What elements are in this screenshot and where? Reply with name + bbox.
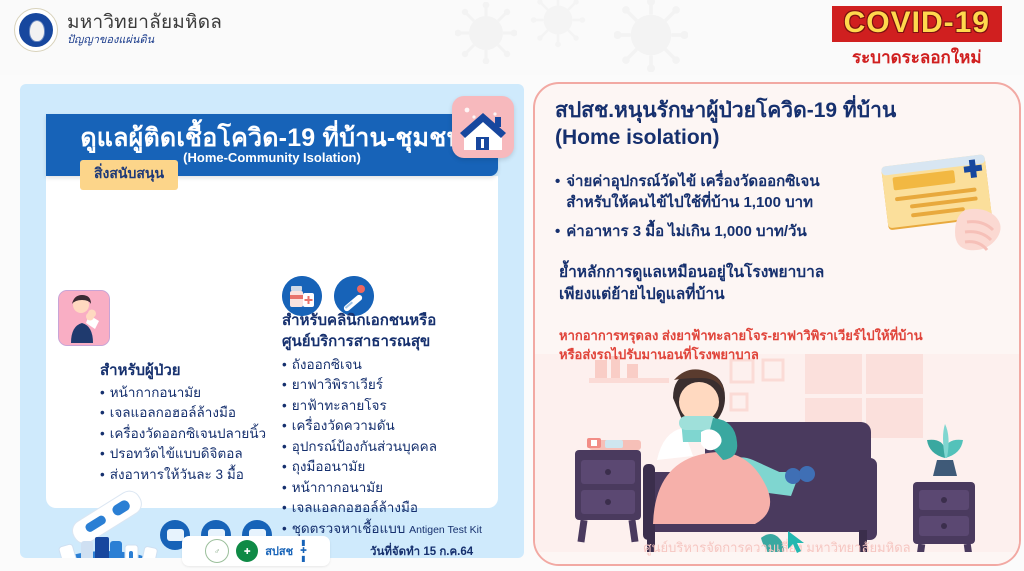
bullet-line2-suffix: บาท — [781, 194, 813, 211]
date-made-label: วันที่จัดทำ 15 ก.ค.64 — [370, 543, 473, 561]
list-item-label: ยาฟาวิพิราเวียร์ — [292, 375, 512, 396]
slide-canvas: มหาวิทยาลัยมหิดล ปัญญาของแผ่นดิน COVID-1… — [0, 0, 1024, 571]
mahidol-seal-icon — [14, 8, 58, 52]
university-name-block: มหาวิทยาลัยมหิดล ปัญญาของแผ่นดิน — [67, 13, 222, 46]
list-item: •ถุงมืออนามัย — [282, 457, 512, 478]
bullet-dot: • — [100, 403, 105, 424]
thermometer-icon — [334, 276, 374, 316]
list-item: • ค่าอาหาร 3 มื้อ ไม่เกิน 1,000 บาท/วัน — [555, 222, 915, 243]
list-item-label: หน้ากากอนามัย — [110, 383, 290, 404]
bullet-dot: • — [100, 444, 105, 465]
university-name: มหาวิทยาลัยมหิดล — [67, 13, 222, 33]
covid-badge-word: COVID-19 — [832, 6, 1002, 42]
bullet-amount: 1,000 — [714, 223, 752, 240]
list-item: •หน้ากากอนามัย — [282, 478, 512, 499]
list-item-label: ค่าอาหาร 3 มื้อ ไม่เกิน 1,000 บาท/วัน — [566, 222, 806, 243]
clinic-column-heading-line2: ศูนย์บริการสาธารณสุข — [282, 333, 512, 352]
list-item: •ยาฟ้าทะลายโจร — [282, 396, 512, 417]
partner-logos: ♂ ✚ สปสช ▮✚▮ — [182, 536, 330, 566]
bullet-line1-prefix: ค่าอาหาร 3 มื้อ ไม่เกิน — [566, 223, 714, 240]
coughing-woman-icon — [58, 290, 110, 346]
right-card-emphasis: ย้ำหลักการดูแลเหมือนอยู่ในโรงพยาบาล เพีย… — [559, 262, 979, 306]
list-item-label: ถังออกซิเจน — [292, 355, 512, 376]
patient-column: สำหรับผู้ป่วย •หน้ากากอนามัย •เจลแอลกอฮอ… — [100, 362, 290, 485]
list-item-text: ชุดตรวจหาเชื้อแบบ — [292, 521, 406, 536]
bullet-dot: • — [282, 416, 287, 437]
list-item: •ยาฟาวิพิราเวียร์ — [282, 375, 512, 396]
list-item: •เครื่องวัดออกซิเจนปลายนิ้ว — [100, 424, 290, 445]
list-item: •เจลแอลกอฮอล์ล้างมือ — [100, 403, 290, 424]
home-isolation-card: สปสช.หนุนรักษาผู้ป่วยโควิด-19 ที่บ้าน (H… — [533, 82, 1021, 566]
emphasis-line1: ย้ำหลักการดูแลเหมือนอยู่ในโรงพยาบาล — [559, 262, 979, 284]
clinic-column-heading-line1: สำหรับคลินิกเอกชนหรือ — [282, 312, 512, 331]
list-item: •เจลแอลกอฮอล์ล้างมือ — [282, 498, 512, 519]
covid-badge: COVID-19 ระบาดระลอกใหม่ — [832, 6, 1002, 71]
list-item-label: อุปกรณ์ป้องกันส่วนบุคคล — [292, 437, 512, 458]
list-item: •เครื่องวัดความดัน — [282, 416, 512, 437]
bullet-dot: • — [282, 437, 287, 458]
warning-line2: หรือส่งรถไปรับมานอนที่โรงพยาบาล — [559, 345, 999, 364]
bullet-dot: • — [555, 222, 560, 243]
department-of-health-logo: ✚ — [236, 540, 258, 562]
thai-government-logo: ▮✚▮ — [300, 539, 307, 563]
sick-person-on-sofa-icon — [535, 354, 1019, 564]
bullet-dot: • — [100, 383, 105, 404]
bullet-dot: • — [282, 457, 287, 478]
mouse-pointer-icon — [786, 529, 812, 555]
nhso-label: สปสช — [265, 542, 293, 560]
coronavirus-icon — [530, 0, 586, 48]
bullet-line1-suffix: บาท/วัน — [752, 223, 807, 240]
bullet-dot: • — [282, 375, 287, 396]
bullet-line1: จ่ายค่าอุปกรณ์วัดไข้ เครื่องวัดออกซิเจน — [566, 173, 819, 190]
list-item-suffix: Antigen Test Kit — [409, 524, 482, 536]
antigen-test-kit-icon — [48, 479, 168, 558]
bullet-dot: • — [282, 355, 287, 376]
clinic-icons-row — [282, 276, 374, 316]
support-badge: สิ่งสนับสนุน — [80, 160, 178, 190]
bullet-amount: 1,100 — [743, 194, 781, 211]
coronavirus-icon — [455, 2, 517, 64]
slide-header: มหาวิทยาลัยมหิดล ปัญญาของแผ่นดิน COVID-1… — [0, 0, 1024, 75]
medicine-bottle-icon — [282, 276, 322, 316]
nhso-logo: สปสช — [265, 542, 293, 560]
list-item-label: ปรอทวัดไข้แบบดิจิตอล — [110, 444, 290, 465]
right-card-title: สปสช.หนุนรักษาผู้ป่วยโควิด-19 ที่บ้าน (H… — [555, 98, 985, 152]
bullet-dot: • — [555, 172, 560, 213]
ministry-of-public-health-logo: ♂ — [205, 539, 229, 563]
warning-line1: หากอาการทรุดลง ส่งยาฟ้าทะลายโจร-ยาฟาวิพิ… — [559, 326, 999, 345]
house-icon — [452, 96, 514, 158]
list-item-label: จ่ายค่าอุปกรณ์วัดไข้ เครื่องวัดออกซิเจน … — [566, 172, 819, 213]
bullet-dot: • — [282, 478, 287, 499]
covid-badge-subtitle: ระบาดระลอกใหม่ — [832, 44, 1002, 71]
list-item-label: หน้ากากอนามัย — [292, 478, 512, 499]
list-item: •ถังออกซิเจน — [282, 355, 512, 376]
list-item-label: เจลแอลกอฮอล์ล้างมือ — [110, 403, 290, 424]
home-community-isolation-card: ดูแลผู้ติดเชื้อโควิด-19 ที่บ้าน-ชุมชน (H… — [20, 84, 524, 558]
list-item: • จ่ายค่าอุปกรณ์วัดไข้ เครื่องวัดออกซิเจ… — [555, 172, 915, 213]
list-item: •ปรอทวัดไข้แบบดิจิตอล — [100, 444, 290, 465]
credit-line: ศูนย์บริหารจัดการความเสี่ยง มหาวิทยาลัยม… — [535, 537, 1019, 558]
right-card-title-line1: สปสช.หนุนรักษาผู้ป่วยโควิด-19 ที่บ้าน — [555, 98, 985, 125]
list-item-label: ยาฟ้าทะลายโจร — [292, 396, 512, 417]
patient-column-heading: สำหรับผู้ป่วย — [100, 362, 290, 381]
clinic-column: สำหรับคลินิกเอกชนหรือ ศูนย์บริการสาธารณส… — [282, 312, 512, 539]
university-logo-block: มหาวิทยาลัยมหิดล ปัญญาของแผ่นดิน — [14, 8, 222, 52]
list-item-label: ถุงมืออนามัย — [292, 457, 512, 478]
right-card-warning: หากอาการทรุดลง ส่งยาฟ้าทะลายโจร-ยาฟาวิพิ… — [559, 326, 999, 364]
emphasis-line2: เพียงแต่ย้ายไปดูแลที่บ้าน — [559, 284, 979, 306]
bullet-dot: • — [282, 498, 287, 519]
right-card-bullets: • จ่ายค่าอุปกรณ์วัดไข้ เครื่องวัดออกซิเจ… — [555, 172, 915, 252]
coronavirus-icon — [614, 0, 688, 72]
bullet-line2-prefix: สำหรับให้คนไข้ไปใช้ที่บ้าน — [566, 194, 743, 211]
list-item-label: เครื่องวัดออกซิเจนปลายนิ้ว — [110, 424, 290, 445]
list-item-label: เครื่องวัดความดัน — [292, 416, 512, 437]
list-item-label: เจลแอลกอฮอล์ล้างมือ — [292, 498, 512, 519]
list-item: •อุปกรณ์ป้องกันส่วนบุคคล — [282, 437, 512, 458]
bullet-dot: • — [282, 396, 287, 417]
bullet-dot: • — [100, 424, 105, 445]
list-item: •หน้ากากอนามัย — [100, 383, 290, 404]
university-tagline: ปัญญาของแผ่นดิน — [67, 35, 222, 47]
